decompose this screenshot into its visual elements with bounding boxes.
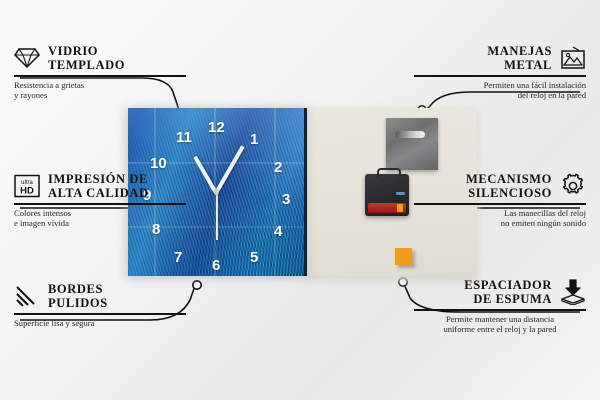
feature-rule <box>414 309 586 311</box>
mechanism-hook <box>377 168 401 178</box>
feature-vidrio-templado: VIDRIO TEMPLADO Resistencia a grietas y … <box>14 44 186 101</box>
gear-icon <box>560 173 586 199</box>
clock-second-hand <box>216 192 218 240</box>
feature-subtitle-line1: Las manecillas del reloj <box>414 208 586 219</box>
feature-title-line1: MANEJAS <box>487 44 552 58</box>
feature-subtitle-line1: Colores intensos <box>14 208 186 219</box>
feature-title-line2: ALTA CALIDAD <box>48 186 149 200</box>
feature-title-line2: METAL <box>487 58 552 72</box>
feature-subtitle-line1: Resistencia a grietas <box>14 80 186 91</box>
mechanism-label-strip <box>396 192 405 195</box>
feature-subtitle-line2: no emiten ningún sonido <box>414 218 586 229</box>
clock-numeral-2: 2 <box>274 160 282 175</box>
battery <box>368 203 406 213</box>
clock-center-cap <box>214 190 219 195</box>
clock-numeral-1: 1 <box>250 132 258 147</box>
feature-subtitle-line2: y rayones <box>14 90 186 101</box>
clock-numeral-5: 5 <box>250 250 258 265</box>
clock-numeral-6: 6 <box>212 258 220 273</box>
feature-title-line2: SILENCIOSO <box>466 186 552 200</box>
feature-title-line1: VIDRIO <box>48 44 125 58</box>
diamond-icon <box>14 45 40 71</box>
feature-subtitle-line1: Superficie lisa y segura <box>14 318 186 329</box>
feature-rule <box>414 75 586 77</box>
feature-title-line1: BORDES <box>48 282 108 296</box>
feature-subtitle-line1: Permite mantener una distancia <box>414 314 586 325</box>
clock-numeral-3: 3 <box>282 192 290 207</box>
picture-frame-icon <box>560 45 586 71</box>
clock-numeral-7: 7 <box>174 250 182 265</box>
feature-title-line2: TEMPLADO <box>48 58 125 72</box>
clock-numeral-12: 12 <box>208 120 225 135</box>
metal-hanger-plate <box>386 118 438 170</box>
ultra-hd-icon: ultra HD <box>14 173 40 199</box>
feature-rule <box>14 203 186 205</box>
feature-subtitle-line2: del reloj en la pared <box>414 90 586 101</box>
feature-bordes-pulidos: BORDES PULIDOS Superficie lisa y segura <box>14 282 186 328</box>
clock-numeral-11: 11 <box>176 130 192 145</box>
svg-text:HD: HD <box>20 186 34 197</box>
feature-mecanismo-silencioso: MECANISMO SILENCIOSO Las manecillas del … <box>414 172 586 229</box>
feature-rule <box>14 75 186 77</box>
feature-title-line2: DE ESPUMA <box>464 292 552 306</box>
clock-numeral-4: 4 <box>274 224 282 239</box>
feature-title-line1: MECANISMO <box>466 172 552 186</box>
feature-subtitle-line1: Permiten una fácil instalación <box>414 80 586 91</box>
feature-title-line1: ESPACIADOR <box>464 278 552 292</box>
diagonal-lines-icon <box>14 283 40 309</box>
hanger-slot <box>395 131 425 138</box>
feature-espaciador-de-espuma: ESPACIADOR DE ESPUMA Permite mantener un… <box>414 278 586 335</box>
infographic-canvas: 12 1 2 3 4 5 6 7 8 9 10 11 <box>0 0 600 400</box>
feature-impresion-alta-calidad: ultra HD IMPRESIÓN DE ALTA CALIDAD Color… <box>14 172 186 229</box>
feature-subtitle-line2: e imagen vívida <box>14 218 186 229</box>
foam-spacer <box>395 248 412 265</box>
clock-numeral-10: 10 <box>150 156 167 171</box>
feature-title-line1: IMPRESIÓN DE <box>48 172 149 186</box>
clock-mechanism <box>365 174 409 216</box>
feature-rule <box>414 203 586 205</box>
feature-subtitle-line2: uniforme entre el reloj y la pared <box>414 324 586 335</box>
arrow-down-pad-icon <box>560 279 586 305</box>
feature-manejas-metal: MANEJAS METAL Permiten una fácil instala… <box>414 44 586 101</box>
feature-rule <box>14 313 186 315</box>
feature-title-line2: PULIDOS <box>48 296 108 310</box>
